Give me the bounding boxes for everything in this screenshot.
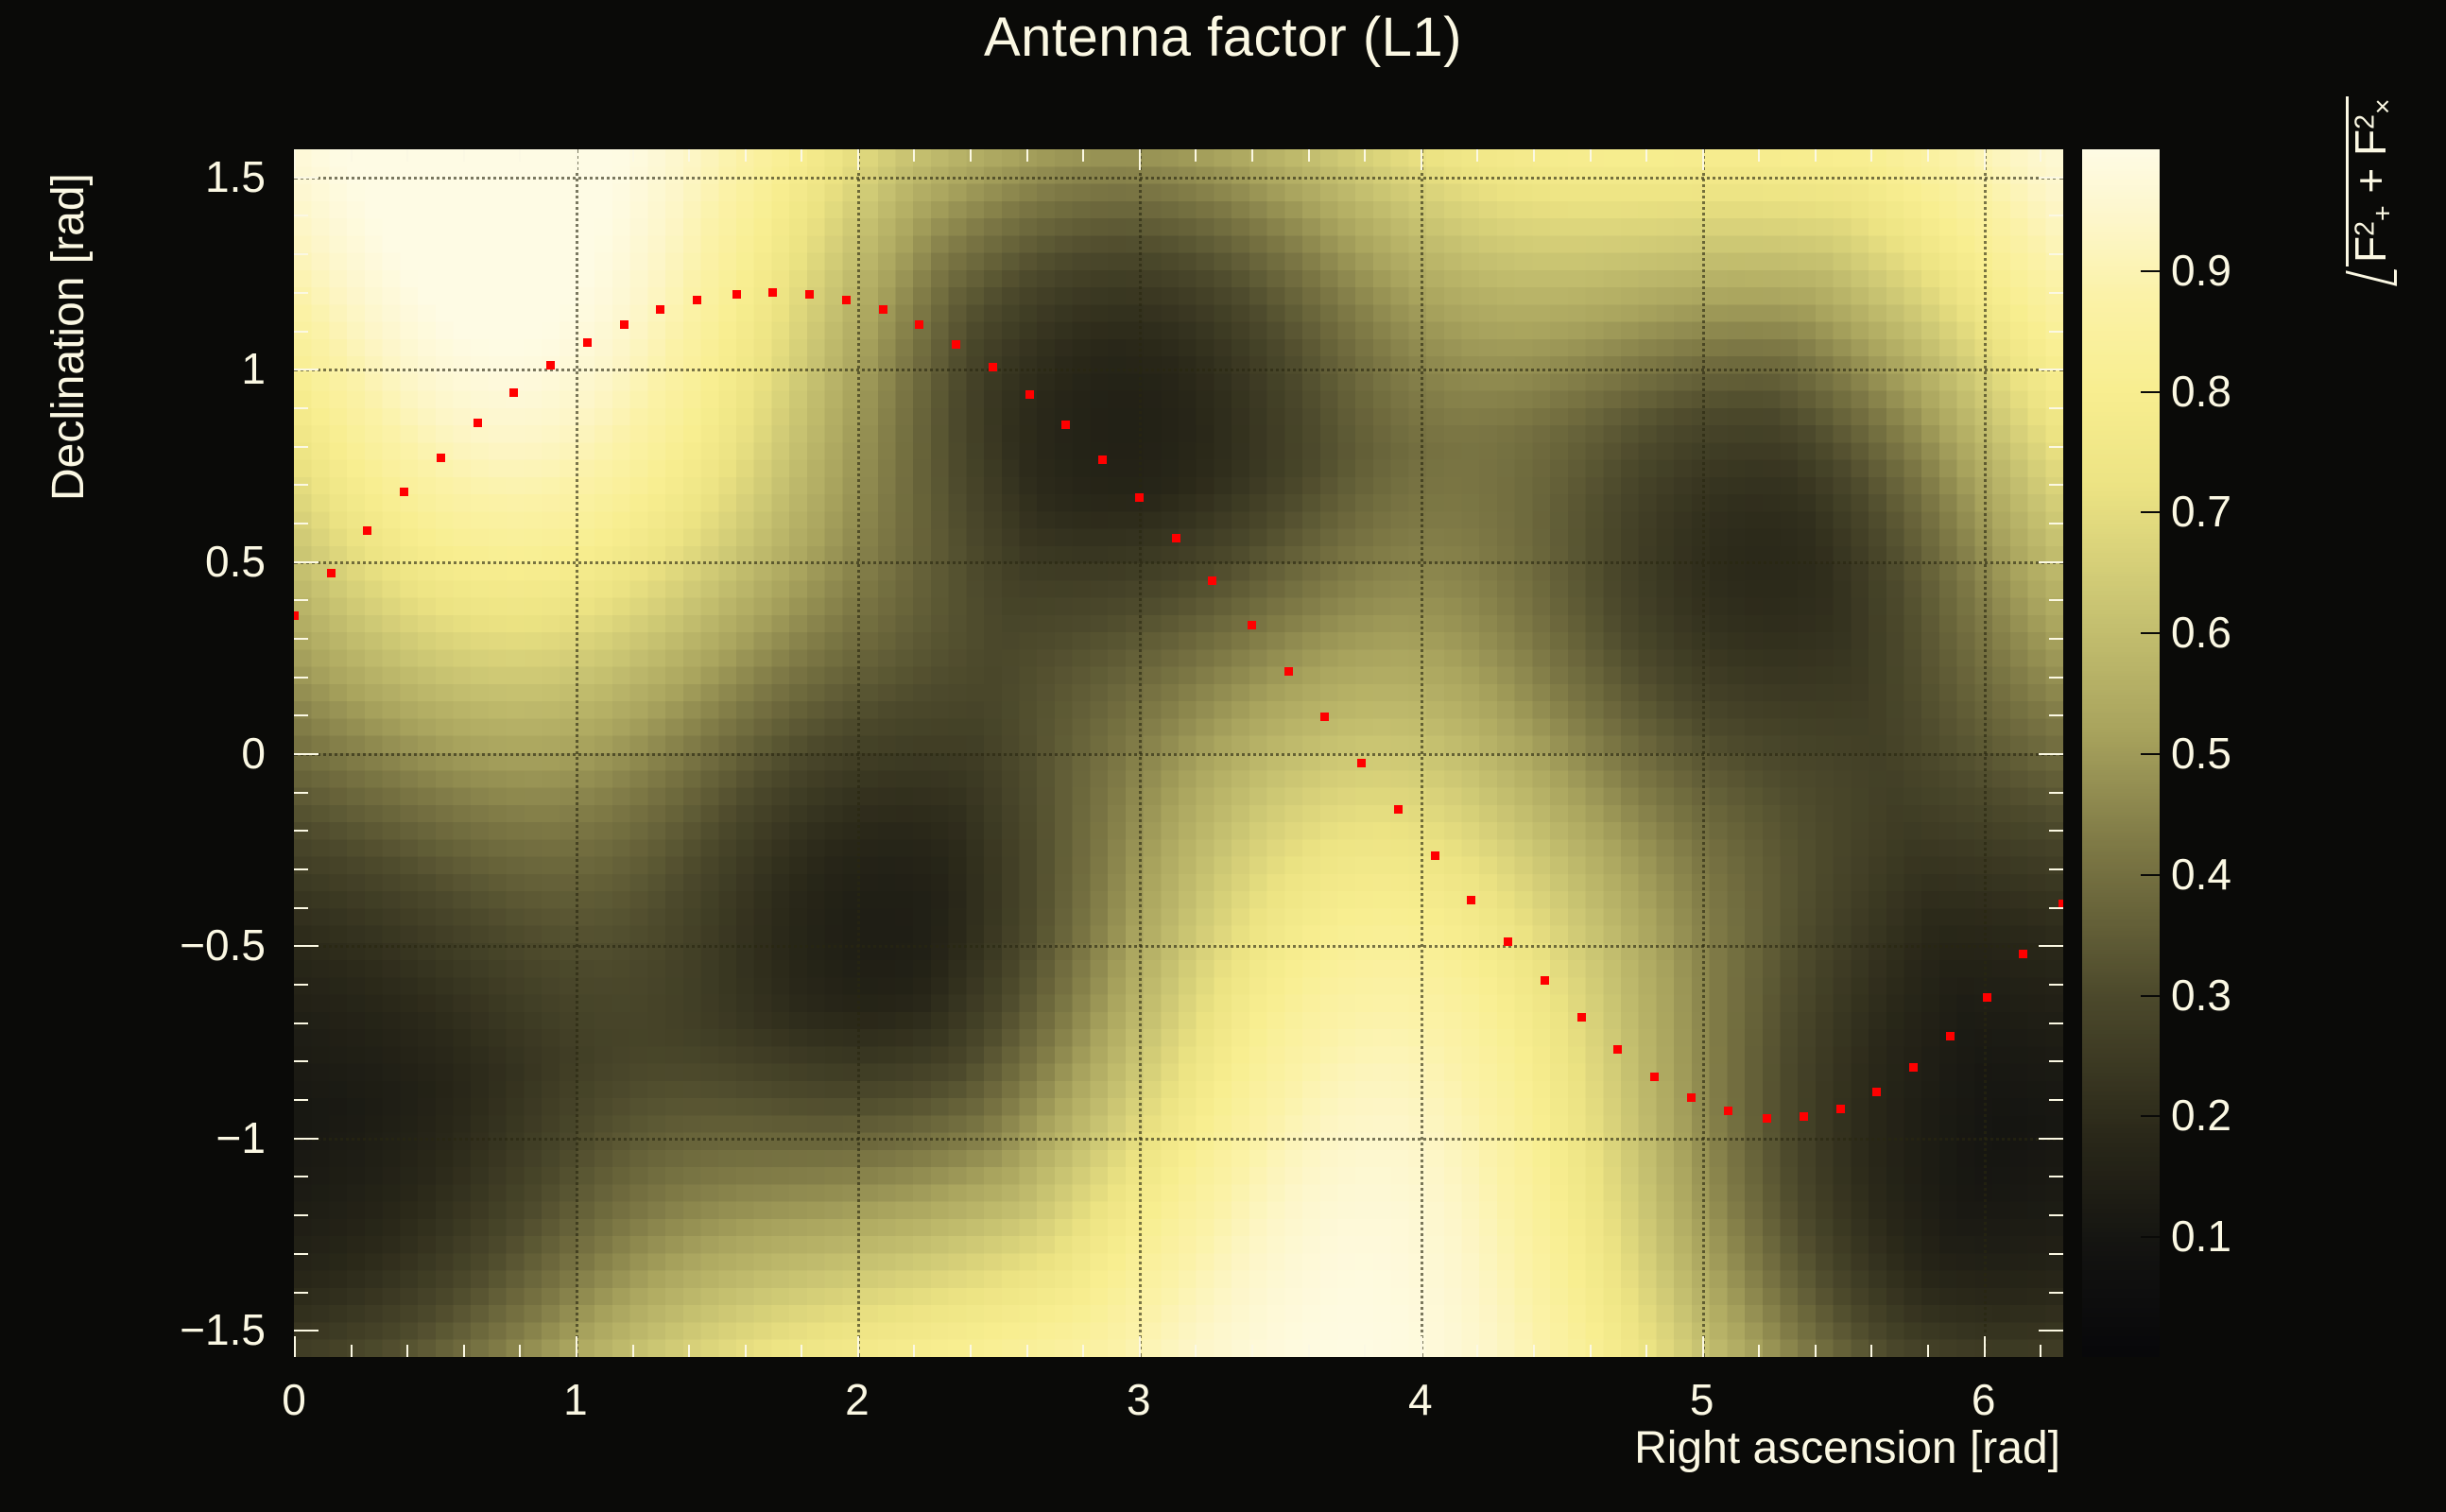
tick-mark <box>2049 984 2063 986</box>
y-tick-label: −0.5 <box>77 919 266 971</box>
tick-mark <box>801 1345 802 1357</box>
tick-mark <box>463 149 465 162</box>
f-cross-term: F2× <box>2346 98 2395 156</box>
tick-mark <box>2040 149 2041 162</box>
sky-track-point <box>1431 851 1439 860</box>
tick-mark <box>576 1336 577 1357</box>
tick-mark <box>2039 945 2063 947</box>
sky-track-point <box>1172 534 1180 542</box>
tick-mark <box>519 149 521 162</box>
sky-track-point <box>620 320 629 329</box>
tick-mark <box>2049 407 2063 409</box>
sky-track-point <box>1357 759 1366 767</box>
sky-track-point <box>989 363 997 371</box>
tick-mark <box>294 599 308 601</box>
x-tick-label: 0 <box>282 1374 306 1425</box>
tick-mark <box>2049 1214 2063 1216</box>
tick-mark <box>294 792 308 794</box>
tick-mark <box>294 1292 308 1294</box>
colorbar-tick-label: 0.3 <box>2171 970 2231 1021</box>
tick-mark <box>2049 868 2063 870</box>
tick-mark <box>1870 1345 1872 1357</box>
colorbar-tick-mark <box>2141 632 2160 634</box>
tick-mark <box>294 407 308 409</box>
tick-mark <box>632 1345 634 1357</box>
y-tick-label: 1 <box>77 343 266 394</box>
sky-track-point <box>1467 896 1475 904</box>
tick-mark <box>294 215 308 216</box>
tick-mark <box>294 714 308 716</box>
x-tick-label: 5 <box>1690 1374 1714 1425</box>
tick-mark <box>1702 149 1704 170</box>
tick-mark <box>2049 292 2063 294</box>
sky-track-point <box>1208 576 1216 585</box>
tick-mark <box>1702 1336 1704 1357</box>
tick-mark <box>2049 907 2063 909</box>
tick-mark <box>1758 149 1760 162</box>
tick-mark <box>2049 599 2063 601</box>
tick-mark <box>2039 369 2063 370</box>
sky-track-point <box>952 340 960 349</box>
tick-mark <box>857 1336 859 1357</box>
sky-track-point <box>474 419 482 427</box>
tick-mark <box>294 331 308 333</box>
sky-track-point <box>1946 1032 1955 1040</box>
tick-mark <box>294 907 308 909</box>
tick-mark <box>688 1345 690 1357</box>
y-tick-label: 0 <box>77 728 266 779</box>
tick-mark <box>294 984 308 986</box>
tick-mark <box>1421 1336 1422 1357</box>
tick-mark <box>1364 149 1366 162</box>
tick-mark <box>1590 1345 1592 1357</box>
sky-track-point <box>1650 1073 1659 1081</box>
tick-mark <box>294 1176 308 1177</box>
colorbar-tick-mark <box>2141 391 2160 393</box>
tick-mark <box>913 149 915 162</box>
tick-mark <box>294 177 319 179</box>
sky-track-point <box>1836 1105 1845 1113</box>
tick-mark <box>2039 1330 2063 1332</box>
sky-track-point <box>1577 1013 1586 1022</box>
tick-mark <box>1758 1345 1760 1357</box>
sky-track-point <box>656 305 664 314</box>
tick-mark <box>1082 149 1084 162</box>
tick-mark <box>294 753 319 755</box>
tick-mark <box>351 1345 353 1357</box>
tick-mark <box>2049 523 2063 524</box>
tick-mark <box>576 149 577 170</box>
tick-mark <box>1476 1345 1478 1357</box>
colorbar-tick-mark <box>2141 1115 2160 1117</box>
tick-mark <box>294 638 308 640</box>
sky-track-point <box>693 296 701 304</box>
sky-track-point <box>768 288 777 297</box>
tick-mark <box>294 561 319 563</box>
tick-mark <box>1026 149 1028 162</box>
x-tick-label: 4 <box>1408 1374 1433 1425</box>
tick-mark <box>294 677 308 679</box>
tick-mark <box>745 149 747 162</box>
tick-mark <box>294 1253 308 1255</box>
tick-mark <box>2049 830 2063 832</box>
plot-area <box>294 149 2063 1357</box>
colorbar-tick-label: 0.1 <box>2171 1211 2231 1262</box>
sky-track-point <box>1800 1112 1808 1121</box>
sky-track-point <box>915 320 923 329</box>
tick-mark <box>2039 177 2063 179</box>
tick-mark <box>1645 1345 1647 1357</box>
sky-track-point <box>1909 1063 1918 1072</box>
tick-mark <box>2039 753 2063 755</box>
sky-track-point <box>1541 976 1549 985</box>
y-tick-label: −1 <box>77 1112 266 1163</box>
colorbar-tick-label: 0.7 <box>2171 486 2231 537</box>
colorbar-tick-mark <box>2141 1236 2160 1238</box>
tick-mark <box>519 1345 521 1357</box>
tick-mark <box>351 149 353 162</box>
tick-mark <box>1984 1336 1986 1357</box>
tick-mark <box>1815 149 1817 162</box>
tick-mark <box>294 369 319 370</box>
tick-mark <box>2049 677 2063 679</box>
x-tick-label: 2 <box>845 1374 870 1425</box>
y-tick-label: −1.5 <box>77 1304 266 1355</box>
sky-track-point <box>1061 421 1070 429</box>
tick-mark <box>1139 149 1141 170</box>
plus-operator: + <box>2346 156 2395 205</box>
sky-track-point <box>2019 950 2027 958</box>
tick-mark <box>294 1330 319 1332</box>
sky-track-point <box>732 290 741 299</box>
colorbar-tick-label: 0.8 <box>2171 366 2231 417</box>
sky-track-point <box>1098 455 1107 464</box>
tick-mark <box>1533 1345 1535 1357</box>
sky-track-point <box>509 388 518 397</box>
tick-mark <box>632 149 634 162</box>
colorbar-tick-label: 0.2 <box>2171 1090 2231 1141</box>
sky-track-point <box>805 290 814 299</box>
colorbar-tick-mark <box>2141 874 2160 876</box>
x-tick-label: 6 <box>1972 1374 1996 1425</box>
sky-track-point <box>294 611 299 620</box>
sky-track-point <box>1135 493 1144 502</box>
tick-mark <box>2049 1176 2063 1177</box>
sky-track-point <box>437 454 445 462</box>
tick-mark <box>2049 446 2063 448</box>
colorbar-title: F2+ + F2× <box>2342 98 2399 283</box>
sky-track-point <box>1284 667 1293 676</box>
tick-mark <box>2049 638 2063 640</box>
tick-mark <box>294 1060 308 1062</box>
tick-mark <box>294 945 319 947</box>
tick-mark <box>2049 1022 2063 1024</box>
x-tick-label: 3 <box>1127 1374 1151 1425</box>
tick-mark <box>294 1099 308 1101</box>
colorbar-tick-label: 0.9 <box>2171 245 2231 296</box>
tick-mark <box>294 149 296 170</box>
tick-mark <box>857 149 859 170</box>
tick-mark <box>1476 149 1478 162</box>
sky-track-point <box>1724 1107 1732 1115</box>
tick-mark <box>1590 149 1592 162</box>
sky-track-point <box>1394 805 1403 814</box>
tick-mark <box>294 484 308 486</box>
sky-track-point <box>1025 390 1034 399</box>
tick-mark <box>294 830 308 832</box>
sky-track-point <box>1613 1045 1622 1054</box>
sky-track-point <box>400 488 408 496</box>
chart-canvas: Antenna factor (L1) 0123456 1.510.50−0.5… <box>0 0 2446 1512</box>
tick-mark <box>970 149 972 162</box>
sky-track-point <box>1763 1114 1771 1123</box>
tick-mark <box>1927 1345 1929 1357</box>
tick-mark <box>294 1336 296 1357</box>
tick-mark <box>2049 1099 2063 1101</box>
sky-track-point <box>1248 621 1256 629</box>
tick-mark <box>294 253 308 255</box>
sky-track-point <box>363 526 371 535</box>
tick-mark <box>2049 331 2063 333</box>
sky-track-point <box>1320 713 1329 721</box>
tick-mark <box>294 1138 319 1140</box>
y-tick-label: 1.5 <box>77 151 266 202</box>
sky-track-point <box>1983 993 1991 1002</box>
tick-mark <box>1421 149 1422 170</box>
tick-mark <box>1195 1345 1197 1357</box>
tick-mark <box>2049 215 2063 216</box>
tick-mark <box>2049 484 2063 486</box>
tick-mark <box>1139 1336 1141 1357</box>
tick-mark <box>406 1345 408 1357</box>
tick-mark <box>2049 1060 2063 1062</box>
tick-mark <box>688 149 690 162</box>
colorbar-tick-mark <box>2141 511 2160 513</box>
tick-mark <box>1195 149 1197 162</box>
f-plus-term: F2+ <box>2346 205 2395 263</box>
colorbar-tick-label: 0.4 <box>2171 849 2231 900</box>
tick-mark <box>294 523 308 524</box>
sky-track-point <box>879 305 887 314</box>
tick-mark <box>1815 1345 1817 1357</box>
sky-track-point <box>1872 1088 1881 1096</box>
tick-mark <box>294 1214 308 1216</box>
tick-mark <box>801 149 802 162</box>
x-tick-label: 1 <box>563 1374 588 1425</box>
tick-mark <box>1364 1345 1366 1357</box>
colorbar-tick-label: 0.5 <box>2171 728 2231 779</box>
x-axis-title: Right ascension [rad] <box>1634 1422 2060 1474</box>
sky-track-point <box>546 361 555 369</box>
tick-mark <box>294 292 308 294</box>
colorbar-tick-mark <box>2141 995 2160 997</box>
tick-mark <box>294 1022 308 1024</box>
colorbar-tick-label: 0.6 <box>2171 607 2231 658</box>
tick-mark <box>1533 149 1535 162</box>
tick-mark <box>1308 149 1310 162</box>
tick-mark <box>2049 714 2063 716</box>
tick-mark <box>463 1345 465 1357</box>
sky-track-point <box>583 338 592 347</box>
tick-mark <box>294 446 308 448</box>
tick-mark <box>1026 1345 1028 1357</box>
sky-track-point <box>1687 1093 1696 1102</box>
sky-track-point <box>1504 937 1512 946</box>
tick-mark <box>2049 1253 2063 1255</box>
tick-mark <box>970 1345 972 1357</box>
y-tick-label: 0.5 <box>77 536 266 587</box>
sqrt-radical: F2+ + F2× <box>2342 98 2399 283</box>
sky-track-point <box>327 569 336 577</box>
tick-mark <box>1251 1345 1253 1357</box>
tick-mark <box>294 868 308 870</box>
tick-mark <box>2049 253 2063 255</box>
tick-mark <box>913 1345 915 1357</box>
colorbar-tick-mark <box>2141 270 2160 272</box>
chart-title: Antenna factor (L1) <box>0 6 2446 69</box>
tick-mark <box>2049 1292 2063 1294</box>
tick-mark <box>2039 561 2063 563</box>
tick-mark <box>2040 1345 2041 1357</box>
tick-mark <box>745 1345 747 1357</box>
tick-mark <box>1927 149 1929 162</box>
tick-mark <box>1251 149 1253 162</box>
tick-mark <box>1082 1345 1084 1357</box>
tick-mark <box>1308 1345 1310 1357</box>
sky-track-point <box>842 296 851 304</box>
heatmap-image <box>294 149 2063 1357</box>
tick-mark <box>2039 1138 2063 1140</box>
tick-mark <box>1870 149 1872 162</box>
tick-mark <box>2049 792 2063 794</box>
y-axis-title: Declination [rad] <box>43 173 95 501</box>
tick-mark <box>1984 149 1986 170</box>
tick-mark <box>1645 149 1647 162</box>
tick-mark <box>406 149 408 162</box>
colorbar-tick-mark <box>2141 753 2160 755</box>
colorbar <box>2082 149 2160 1357</box>
